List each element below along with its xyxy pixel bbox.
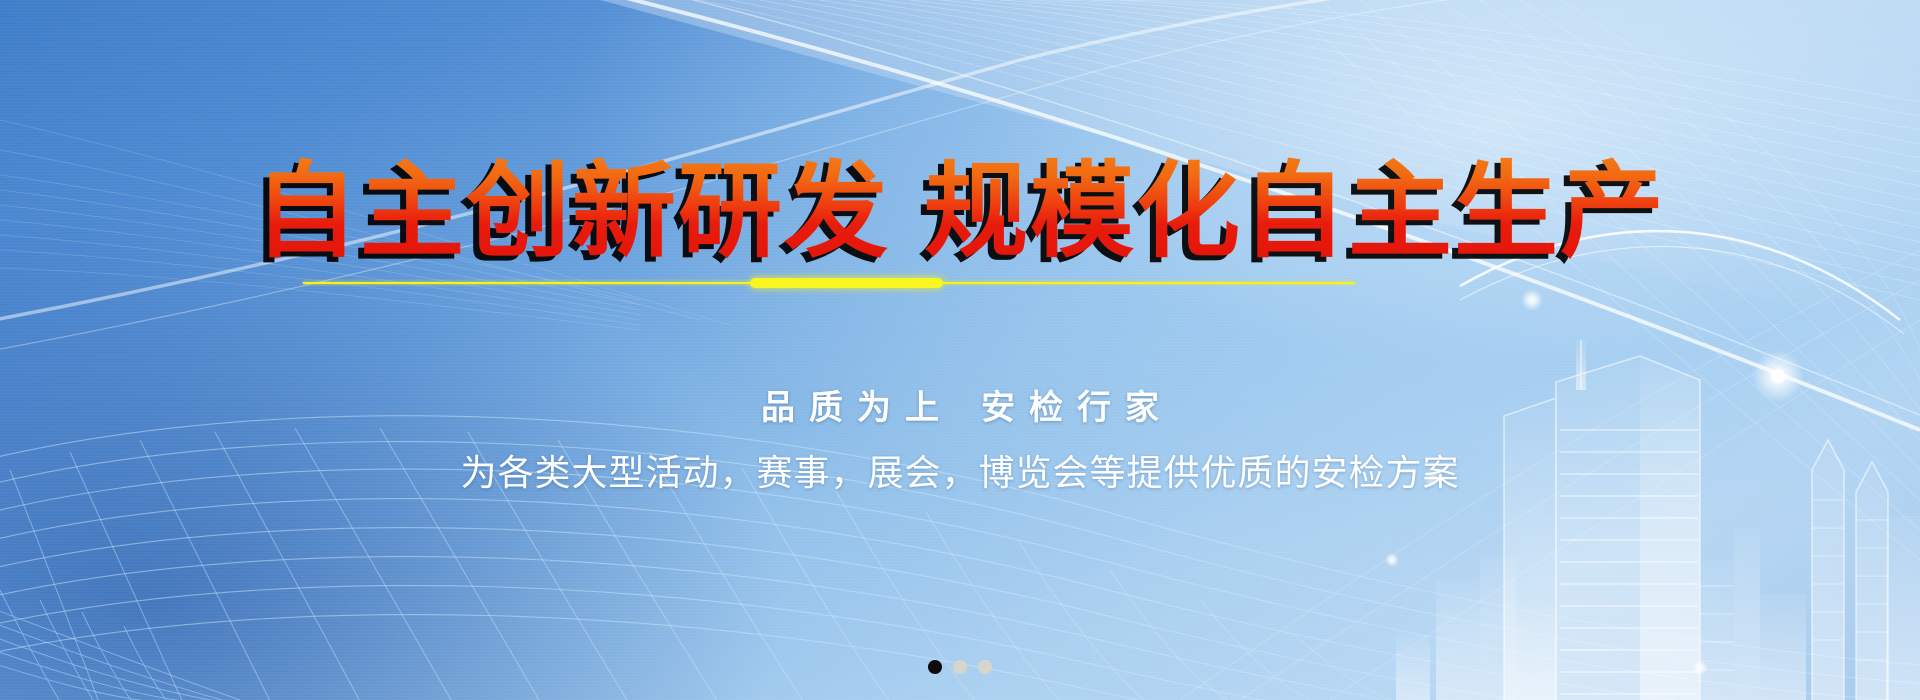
carousel-dots[interactable] (928, 660, 992, 674)
carousel-dot-2[interactable] (953, 660, 967, 674)
subtitle-primary-left: 品质为上 (761, 388, 953, 428)
carousel-dot-3[interactable] (978, 660, 992, 674)
hero-banner: 自主创新研发规模化自主生产 品质为上安检行家 为各类大型活动，赛事，展会，博览会… (0, 0, 1920, 700)
carousel-dot-1[interactable] (928, 660, 942, 674)
subtitle-primary: 品质为上安检行家 (0, 380, 1920, 429)
headline-part-2: 规模化自主生产 (924, 150, 1666, 272)
divider-thick-segment (750, 278, 943, 288)
title-divider (303, 278, 1355, 288)
headline-part-1: 自主创新研发 (254, 150, 890, 272)
subtitle-secondary: 为各类大型活动，赛事，展会，博览会等提供优质的安检方案 (0, 444, 1920, 496)
page-title: 自主创新研发规模化自主生产 (0, 156, 1920, 266)
subtitle-primary-right: 安检行家 (981, 388, 1173, 428)
banner-content: 自主创新研发规模化自主生产 品质为上安检行家 为各类大型活动，赛事，展会，博览会… (0, 0, 1920, 700)
